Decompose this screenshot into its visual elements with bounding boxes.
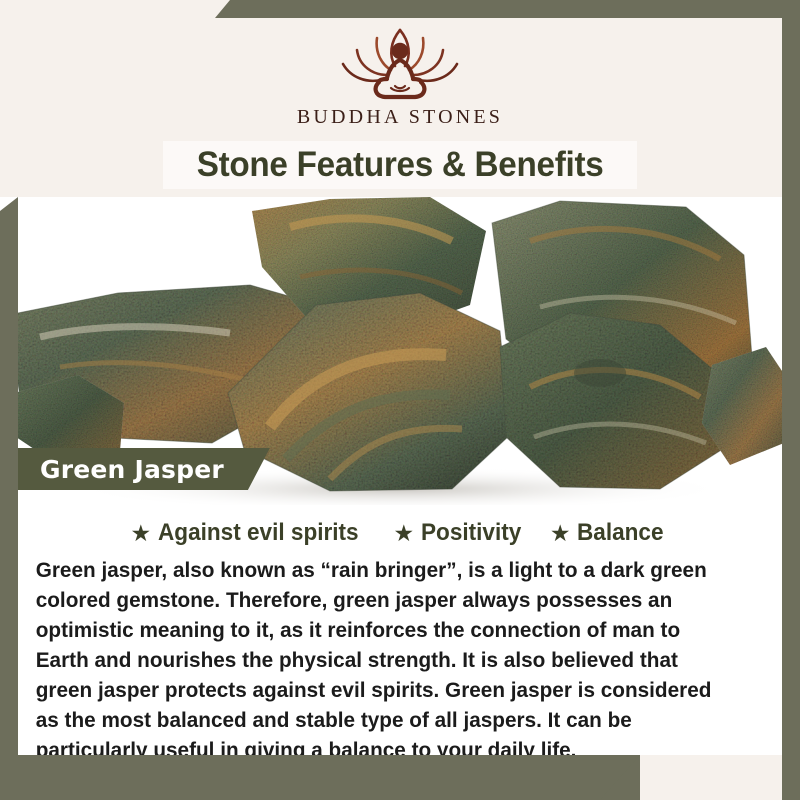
feature-label: Balance	[577, 519, 664, 547]
title-banner: Stone Features & Benefits	[163, 141, 637, 189]
features-row: ★ Against evil spirits ★ Positivity ★ Ba…	[28, 519, 772, 547]
header-section: BUDDHA STONES Stone Features & Benefits	[0, 0, 800, 197]
description-paragraph: Green jasper, also known as “rain bringe…	[28, 555, 746, 765]
frame-top-bar	[215, 0, 800, 18]
page-title: Stone Features & Benefits	[197, 145, 604, 185]
feature-item-positivity: ★ Positivity	[394, 519, 528, 547]
brand-name: BUDDHA STONES	[297, 106, 503, 129]
feature-item-against-evil-spirits: ★ Against evil spirits	[130, 519, 371, 547]
stone-name-tag: Green Jasper	[18, 448, 270, 490]
frame-right-bar	[782, 0, 800, 800]
frame-bottom-bar	[0, 755, 640, 800]
content-panel: ★ Against evil spirits ★ Positivity ★ Ba…	[18, 505, 782, 755]
stone-name-label: Green Jasper	[40, 455, 224, 484]
feature-label: Against evil spirits	[158, 519, 359, 547]
frame-left-bar	[0, 197, 18, 800]
infographic-canvas: BUDDHA STONES Stone Features & Benefits	[0, 0, 800, 800]
star-icon: ★	[130, 522, 151, 545]
brand-logo: BUDDHA STONES	[0, 18, 800, 129]
lotus-meditation-icon	[335, 18, 465, 104]
star-icon: ★	[394, 522, 415, 545]
feature-item-balance: ★ Balance	[550, 519, 670, 547]
star-icon: ★	[550, 522, 571, 545]
feature-label: Positivity	[421, 519, 521, 547]
